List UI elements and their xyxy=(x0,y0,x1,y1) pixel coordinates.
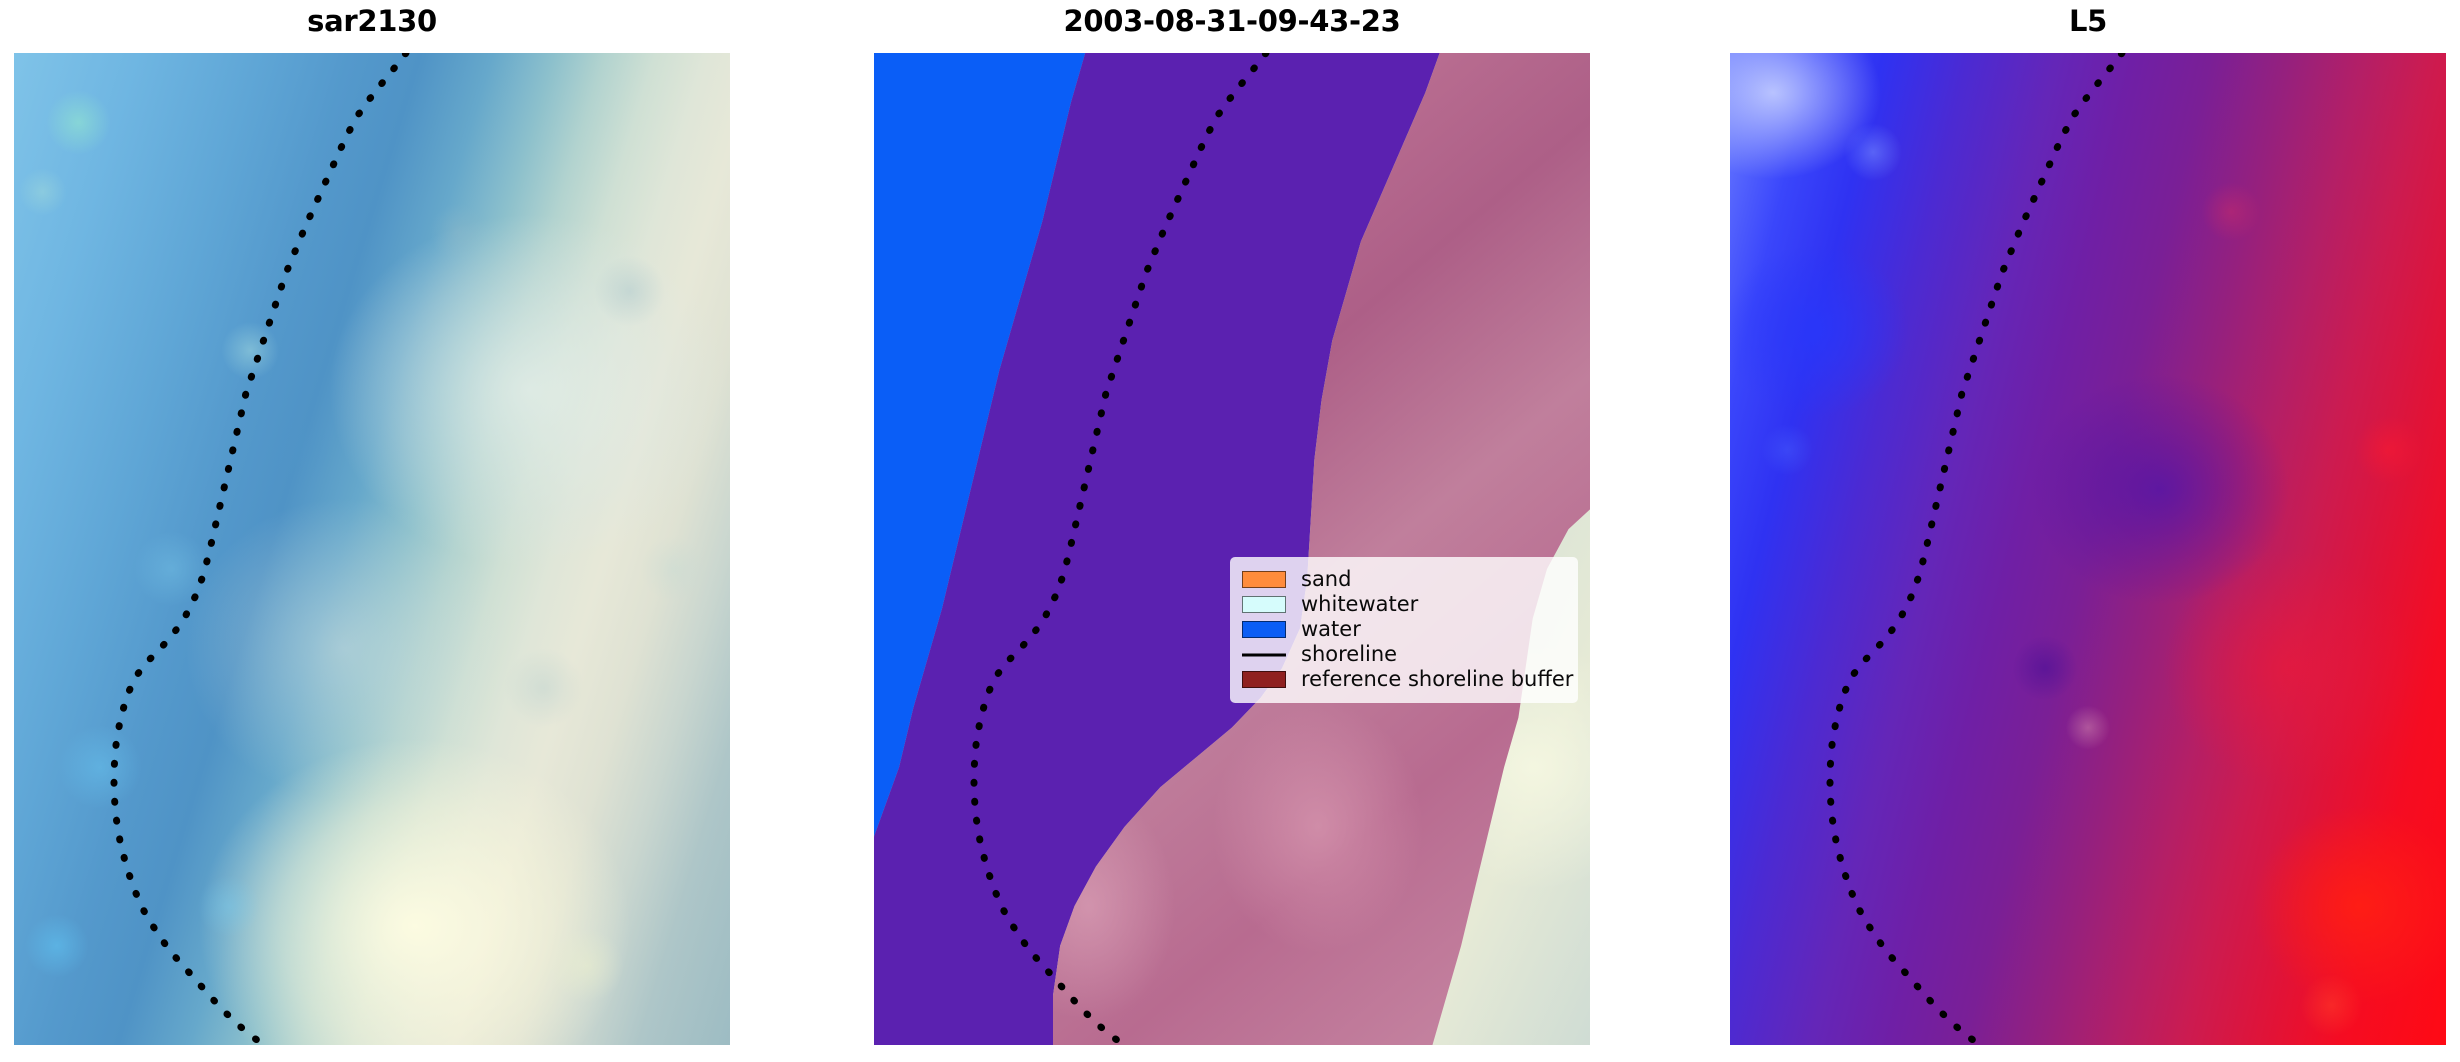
shoreline-path xyxy=(114,53,406,1045)
legend-item-water: water xyxy=(1242,617,1566,642)
legend-box: sand whitewater water shoreline referenc… xyxy=(1230,557,1578,703)
legend-label-reference-shoreline-buffer: reference shoreline buffer xyxy=(1301,667,1573,692)
legend-label-shoreline: shoreline xyxy=(1301,642,1397,667)
legend-item-whitewater: whitewater xyxy=(1242,592,1566,617)
panel-l5-index-image[interactable] xyxy=(1730,53,2446,1045)
legend-label-sand: sand xyxy=(1301,567,1351,592)
shoreline-overlay-l5 xyxy=(1730,53,2446,1045)
legend-label-water: water xyxy=(1301,617,1361,642)
legend-label-whitewater: whitewater xyxy=(1301,592,1418,617)
legend-item-sand: sand xyxy=(1242,567,1566,592)
panel-title-sar2130: sar2130 xyxy=(14,4,730,38)
shoreline-path xyxy=(1830,53,2122,1045)
panel-title-l5: L5 xyxy=(1730,4,2446,38)
panel-sar2130-image[interactable] xyxy=(14,53,730,1045)
legend-swatch-water-icon xyxy=(1242,621,1286,638)
figure-canvas: sar2130 2003-08-31-09-43-23 L5 xyxy=(0,0,2460,1062)
legend-swatch-reference-buffer-icon xyxy=(1242,671,1286,688)
shoreline-path xyxy=(974,53,1266,1045)
panel-classification-image[interactable] xyxy=(874,53,1590,1045)
shoreline-overlay-classification xyxy=(874,53,1590,1045)
panel-title-classification: 2003-08-31-09-43-23 xyxy=(874,4,1590,38)
shoreline-overlay-sar2130 xyxy=(14,53,730,1045)
legend-line-shoreline-icon xyxy=(1242,646,1286,663)
legend-swatch-whitewater-icon xyxy=(1242,596,1286,613)
legend-item-shoreline: shoreline xyxy=(1242,642,1566,667)
legend-item-reference-shoreline-buffer: reference shoreline buffer xyxy=(1242,667,1566,692)
legend-swatch-sand-icon xyxy=(1242,571,1286,588)
